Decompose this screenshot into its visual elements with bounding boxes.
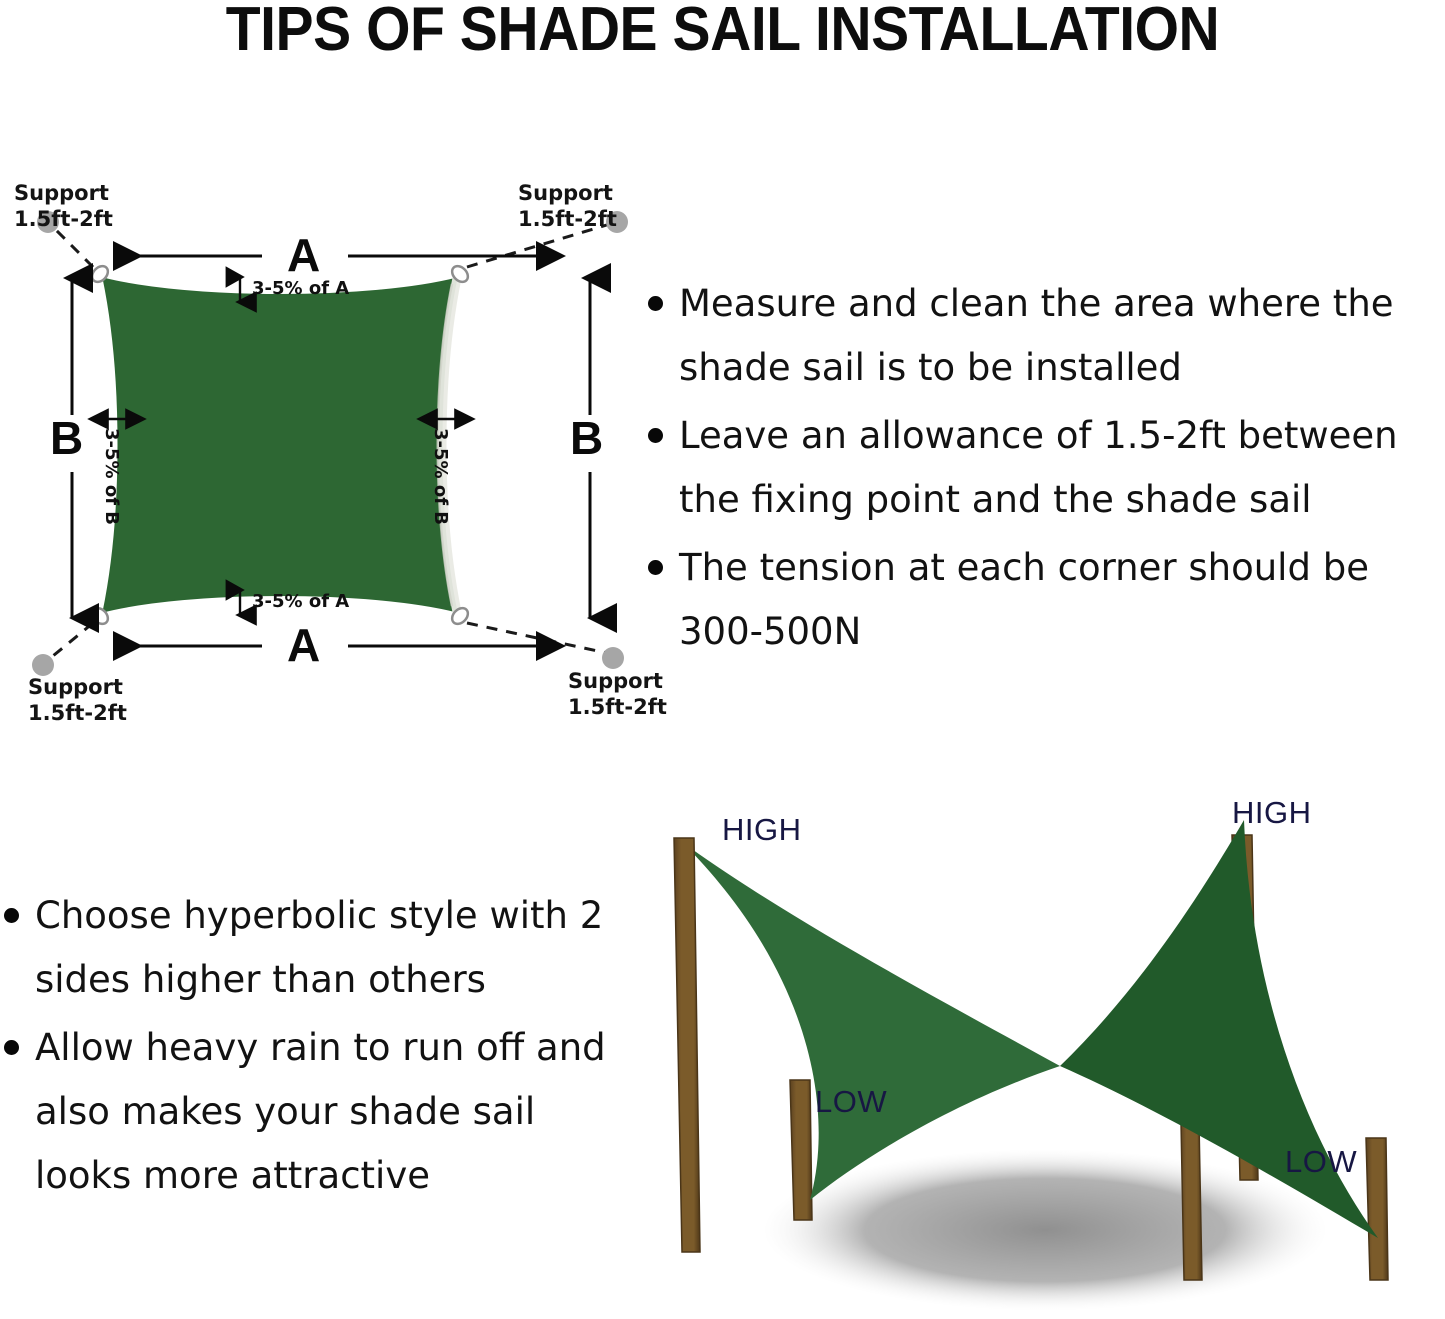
- sail-shape: [103, 278, 457, 612]
- list-item: Measure and clean the area where the sha…: [648, 272, 1445, 400]
- tips-list-installation: Measure and clean the area where the sha…: [648, 272, 1445, 668]
- post-label-high-right: HIGH: [1232, 795, 1312, 831]
- list-item: Leave an allowance of 1.5-2ft between th…: [648, 404, 1445, 532]
- hyperbolic-sail-graphic: [660, 780, 1445, 1319]
- tether-top-left: [53, 227, 93, 267]
- tip-text: Measure and clean the area where the sha…: [679, 272, 1445, 400]
- bullet-dot-icon: [4, 908, 19, 923]
- tips-list-hyperbolic: Choose hyperbolic style with 2 sides hig…: [4, 884, 624, 1212]
- list-item: Choose hyperbolic style with 2 sides hig…: [4, 884, 624, 1012]
- curve-note-right: 3-5% of B: [430, 428, 451, 525]
- support-label-bottom-right: Support 1.5ft-2ft: [568, 668, 667, 720]
- curve-note-left: 3-5% of B: [101, 428, 122, 525]
- post-low-left: [790, 1080, 812, 1220]
- post-high-left: [674, 838, 700, 1252]
- anchor-dot-bottom-right: [602, 647, 624, 669]
- post-label-low-right: LOW: [1285, 1144, 1357, 1180]
- list-item: Allow heavy rain to run off and also mak…: [4, 1016, 624, 1208]
- sail-panel-left: [682, 842, 1060, 1200]
- support-label-top-left: Support 1.5ft-2ft: [14, 180, 113, 232]
- tip-text: Allow heavy rain to run off and also mak…: [35, 1016, 624, 1208]
- dimension-letter-a-bottom: A: [287, 622, 320, 668]
- support-label-top-right: Support 1.5ft-2ft: [518, 180, 617, 232]
- rectangular-sail-diagram: Support 1.5ft-2ft Support 1.5ft-2ft Supp…: [0, 160, 660, 720]
- page-title: TIPS OF SHADE SAIL INSTALLATION: [58, 0, 1387, 65]
- bullet-dot-icon: [648, 428, 663, 443]
- anchor-dot-bottom-left: [32, 654, 54, 676]
- list-item: The tension at each corner should be 300…: [648, 536, 1445, 664]
- tip-text: Choose hyperbolic style with 2 sides hig…: [35, 884, 624, 1012]
- post-label-high-left: HIGH: [722, 812, 802, 848]
- tip-text: The tension at each corner should be 300…: [679, 536, 1445, 664]
- curve-note-bottom: 3-5% of A: [252, 591, 349, 612]
- hyperbolic-sail-diagram: HIGH HIGH LOW LOW: [660, 780, 1445, 1319]
- tether-bottom-right: [467, 623, 607, 653]
- bullet-dot-icon: [648, 296, 663, 311]
- dimension-letter-b-right: B: [570, 415, 603, 461]
- dimension-letter-a-top: A: [287, 232, 320, 278]
- post-label-low-left: LOW: [815, 1084, 887, 1120]
- bullet-dot-icon: [648, 560, 663, 575]
- bullet-dot-icon: [4, 1040, 19, 1055]
- curve-note-top: 3-5% of A: [252, 278, 349, 299]
- support-label-bottom-left: Support 1.5ft-2ft: [28, 674, 127, 726]
- tip-text: Leave an allowance of 1.5-2ft between th…: [679, 404, 1445, 532]
- post-low-right: [1366, 1138, 1388, 1280]
- rectangular-sail-graphic: [0, 160, 660, 720]
- dimension-letter-b-left: B: [50, 415, 83, 461]
- tether-bottom-left: [48, 623, 93, 660]
